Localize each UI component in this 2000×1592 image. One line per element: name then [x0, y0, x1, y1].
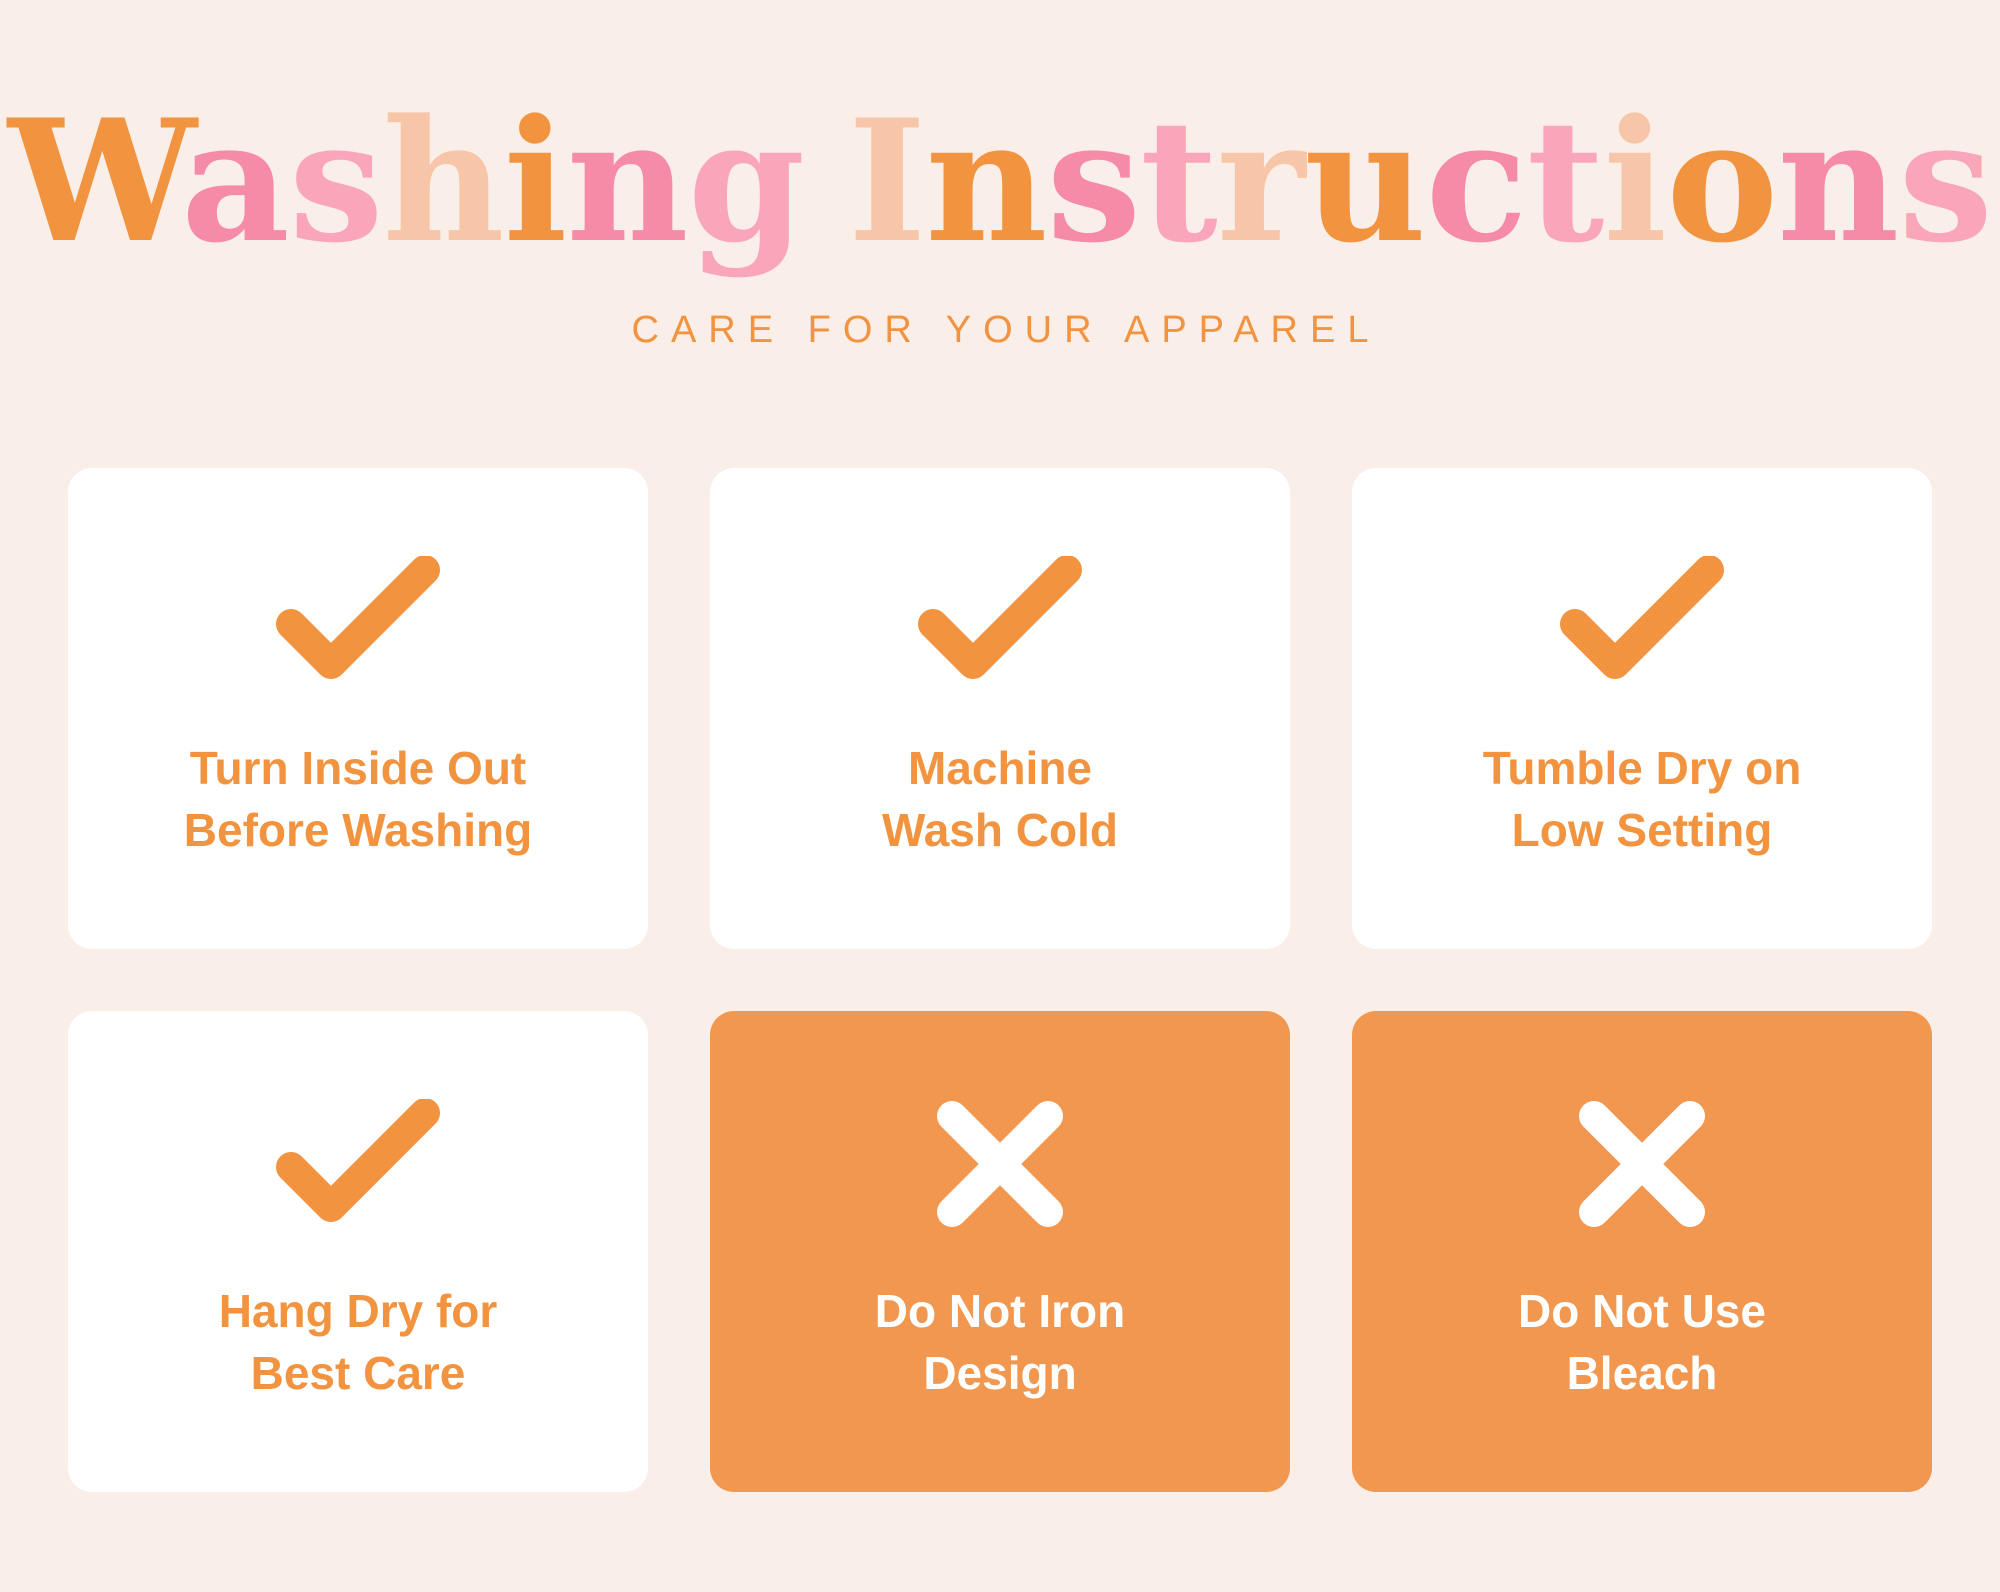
care-card-label: Tumble Dry on Low Setting: [1483, 738, 1802, 860]
title-letter-19: s: [1898, 82, 1992, 280]
care-instruction-grid: Turn Inside Out Before WashingMachine Wa…: [68, 468, 1932, 1492]
title-letter-10: s: [1047, 82, 1141, 280]
title-letter-14: c: [1425, 82, 1526, 280]
title-letter-17: o: [1666, 82, 1777, 280]
care-card-do-not-use-bleach[interactable]: Do Not Use Bleach: [1352, 1011, 1932, 1492]
check-icon: [263, 546, 453, 696]
title-letter-0: W: [8, 82, 181, 280]
care-card-label: Do Not Use Bleach: [1518, 1281, 1766, 1403]
care-card-machine-wash-cold[interactable]: Machine Wash Cold: [710, 468, 1290, 949]
title-letter-18: n: [1777, 82, 1898, 280]
title-letter-2: s: [289, 82, 383, 280]
page-title: WashingInstructions: [0, 96, 2000, 267]
care-card-label: Machine Wash Cold: [882, 738, 1118, 860]
title-letter-9: n: [925, 82, 1046, 280]
title-letter-15: t: [1527, 82, 1604, 280]
washing-instructions-poster: WashingInstructions CARE FOR YOUR APPARE…: [0, 0, 2000, 1592]
care-card-label: Hang Dry for Best Care: [219, 1281, 498, 1403]
title-letter-4: i: [504, 82, 567, 280]
care-card-label: Do Not Iron Design: [875, 1281, 1125, 1403]
check-icon: [905, 546, 1095, 696]
title-letter-13: u: [1304, 82, 1425, 280]
title-letter-8: I: [848, 82, 926, 280]
title-letter-11: t: [1140, 82, 1217, 280]
title-letter-5: n: [567, 82, 688, 280]
care-card-tumble-dry-low[interactable]: Tumble Dry on Low Setting: [1352, 468, 1932, 949]
care-card-label: Turn Inside Out Before Washing: [184, 738, 532, 860]
page-subtitle: CARE FOR YOUR APPAREL: [0, 309, 2000, 352]
poster-header: WashingInstructions CARE FOR YOUR APPARE…: [0, 96, 2000, 352]
cross-icon: [905, 1089, 1095, 1239]
care-card-turn-inside-out[interactable]: Turn Inside Out Before Washing: [68, 468, 648, 949]
care-card-do-not-iron-design[interactable]: Do Not Iron Design: [710, 1011, 1290, 1492]
title-letter-12: r: [1217, 82, 1305, 280]
title-letter-6: g: [688, 82, 804, 280]
check-icon: [1547, 546, 1737, 696]
title-letter-3: h: [383, 82, 504, 280]
cross-icon: [1547, 1089, 1737, 1239]
title-letter-1: a: [181, 82, 289, 280]
title-letter-16: i: [1603, 82, 1666, 280]
check-icon: [263, 1089, 453, 1239]
care-card-hang-dry[interactable]: Hang Dry for Best Care: [68, 1011, 648, 1492]
